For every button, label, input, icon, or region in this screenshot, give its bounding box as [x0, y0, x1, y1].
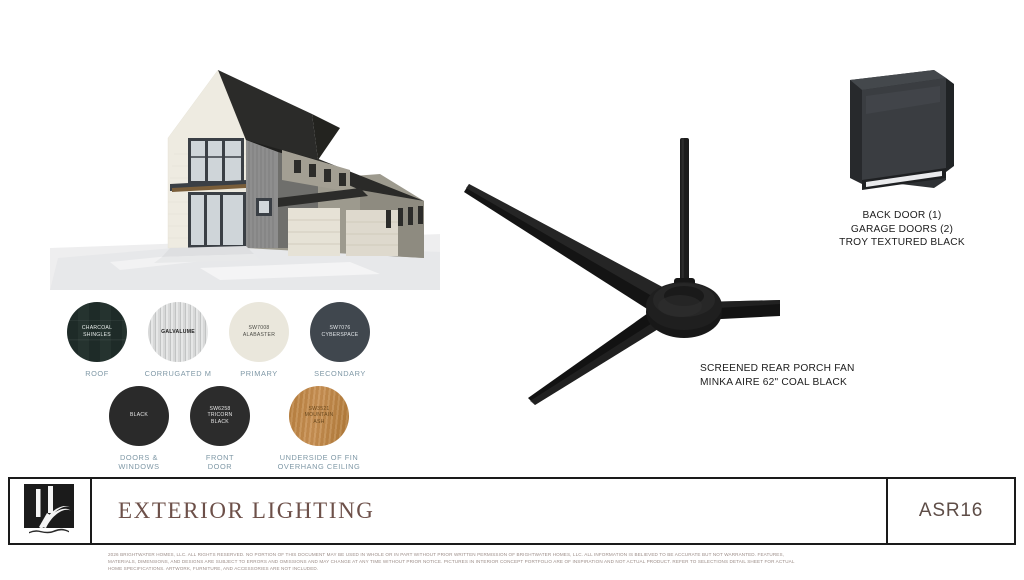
title-block: EXTERIOR LIGHTING ASR16	[8, 477, 1016, 545]
fan-caption-line-2: MINKA AIRE 62" COAL BLACK	[700, 376, 960, 390]
swatch-label-doors-and-windows: DOORS & WINDOWS	[118, 453, 159, 472]
disclaimer-line-2: MATERIALS, DIMENSIONS, AND DESIGNS ARE S…	[108, 558, 988, 565]
swatch-disc-front-door: SW6258 TRICORN BLACK	[190, 386, 250, 446]
swatch-label-primary: PRIMARY	[240, 369, 277, 379]
swatch-disc-fin-overhang-ceiling: SW3521 MOUNTAIN ASH	[289, 386, 349, 446]
swatch-doors-and-windows[interactable]: BLACK DOORS & WINDOWS	[104, 386, 174, 472]
swatch-code-doors-and-windows: BLACK	[127, 412, 151, 419]
legal-disclaimer: 2026 BRIGHTWATER HOMES, LLC. ALL RIGHTS …	[108, 551, 988, 572]
swatch-label-secondary: SECONDARY	[314, 369, 366, 379]
sheet-code: ASR16	[919, 500, 983, 522]
brightwater-logo-icon	[22, 483, 78, 539]
swatch-fin-overhang-ceiling[interactable]: SW3521 MOUNTAIN ASH UNDERSIDE OF FIN OVE…	[266, 386, 372, 472]
swatch-disc-doors-and-windows: BLACK	[109, 386, 169, 446]
exterior-rendering	[50, 62, 442, 290]
swatch-row-bottom: BLACK DOORS & WINDOWS SW6258 TRICORN BLA…	[104, 386, 392, 472]
material-swatch-legend: CHARCOAL SHINGLES ROOF GALVALUME CORRUGA…	[62, 302, 392, 474]
swatch-label-front-door: FRONT DOOR	[206, 453, 234, 472]
wall-sconce-figure	[806, 62, 996, 202]
sconce-caption-line-1: BACK DOOR (1)	[790, 209, 1014, 223]
sheet-title: EXTERIOR LIGHTING	[118, 498, 375, 524]
disclaimer-line-1: 2026 BRIGHTWATER HOMES, LLC. ALL RIGHTS …	[108, 551, 988, 558]
swatch-front-door[interactable]: SW6258 TRICORN BLACK FRONT DOOR	[185, 386, 255, 472]
swatch-corrugated-metal[interactable]: GALVALUME CORRUGATED M	[143, 302, 213, 379]
troy-wall-sconce-image	[806, 62, 996, 202]
swatch-code-secondary: SW7076 CYBERSPACE	[319, 325, 362, 338]
swatch-disc-secondary: SW7076 CYBERSPACE	[310, 302, 370, 362]
swatch-code-front-door: SW6258 TRICORN BLACK	[205, 406, 236, 426]
swatch-row-top: CHARCOAL SHINGLES ROOF GALVALUME CORRUGA…	[62, 302, 392, 379]
disclaimer-line-3: HOME SPECIFICATIONS. ARTWORK, FURNITURE,…	[108, 565, 988, 572]
fan-caption-line-1: SCREENED REAR PORCH FAN	[700, 362, 960, 376]
sconce-caption: BACK DOOR (1) GARAGE DOORS (2) TROY TEXT…	[790, 209, 1014, 250]
swatch-disc-roof: CHARCOAL SHINGLES	[67, 302, 127, 362]
selection-sheet-page: SCREENED REAR PORCH FAN MINKA AIRE 62" C…	[0, 0, 1024, 580]
swatch-disc-corrugated-metal: GALVALUME	[148, 302, 208, 362]
swatch-secondary[interactable]: SW7076 CYBERSPACE SECONDARY	[305, 302, 375, 379]
swatch-label-corrugated-metal: CORRUGATED M	[145, 369, 212, 379]
swatch-code-roof: CHARCOAL SHINGLES	[79, 325, 115, 338]
swatch-label-roof: ROOF	[85, 369, 109, 379]
swatch-code-fin-overhang-ceiling: SW3521 MOUNTAIN ASH	[302, 406, 337, 426]
swatch-code-corrugated-metal: GALVALUME	[158, 329, 198, 336]
sheet-code-cell: ASR16	[886, 479, 1014, 543]
swatch-primary[interactable]: SW7008 ALABASTER PRIMARY	[224, 302, 294, 379]
sheet-title-cell: EXTERIOR LIGHTING	[92, 479, 886, 543]
house-rendering-image	[50, 62, 442, 290]
sconce-caption-line-3: TROY TEXTURED BLACK	[790, 236, 1014, 250]
brand-logo[interactable]	[10, 479, 92, 543]
fan-caption: SCREENED REAR PORCH FAN MINKA AIRE 62" C…	[700, 362, 960, 389]
swatch-roof[interactable]: CHARCOAL SHINGLES ROOF	[62, 302, 132, 379]
sconce-caption-line-2: GARAGE DOORS (2)	[790, 223, 1014, 237]
swatch-disc-primary: SW7008 ALABASTER	[229, 302, 289, 362]
swatch-code-primary: SW7008 ALABASTER	[240, 325, 278, 338]
swatch-label-fin-overhang-ceiling: UNDERSIDE OF FIN OVERHANG CEILING	[278, 453, 361, 472]
